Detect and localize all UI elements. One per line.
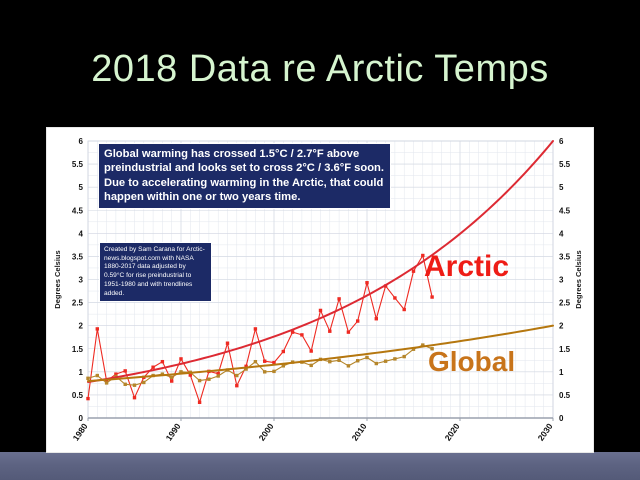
data-point-arctic: [347, 330, 350, 333]
data-point-global: [263, 370, 266, 373]
data-point-global: [328, 360, 331, 363]
data-point-arctic: [356, 319, 359, 322]
data-point-global: [86, 377, 89, 380]
callout-credit: Created by Sam Carana for Arctic-news.bl…: [99, 242, 212, 302]
slide-footer-band: [0, 452, 640, 480]
callout-main-statement: Global warming has crossed 1.5°C / 2.7°F…: [98, 143, 391, 209]
data-point-arctic: [319, 309, 322, 312]
data-point-global: [393, 357, 396, 360]
y-tick-right-0: 0: [559, 414, 564, 423]
data-point-arctic: [170, 379, 173, 382]
y-tick-right-3: 3: [559, 276, 564, 285]
data-point-global: [142, 381, 145, 384]
data-point-arctic: [254, 327, 257, 330]
data-point-global: [207, 378, 210, 381]
data-point-arctic: [430, 295, 433, 298]
y-tick-right-2.5: 2.5: [559, 299, 571, 308]
data-point-global: [133, 384, 136, 387]
data-point-arctic: [328, 330, 331, 333]
data-point-arctic: [124, 369, 127, 372]
data-point-arctic: [161, 360, 164, 363]
y-tick-left-5.5: 5.5: [72, 160, 84, 169]
y-tick-right-2: 2: [559, 322, 564, 331]
data-point-arctic: [412, 269, 415, 272]
y-tick-right-1.5: 1.5: [559, 345, 571, 354]
data-point-arctic: [133, 396, 136, 399]
data-point-global: [337, 359, 340, 362]
data-point-arctic: [310, 349, 313, 352]
slide-canvas: 2018 Data re Arctic Temps 00.511.522.533…: [0, 0, 640, 480]
y-axis-right-title: Degrees Celsius: [574, 250, 583, 308]
data-point-global: [254, 360, 257, 363]
data-point-global: [272, 370, 275, 373]
data-point-global: [198, 379, 201, 382]
data-point-global: [105, 381, 108, 384]
y-tick-left-3.5: 3.5: [72, 252, 84, 261]
data-point-arctic: [403, 308, 406, 311]
data-point-global: [235, 374, 238, 377]
y-tick-right-4.5: 4.5: [559, 206, 571, 215]
page-title: 2018 Data re Arctic Temps: [0, 48, 640, 91]
data-point-arctic: [300, 333, 303, 336]
data-point-global: [310, 364, 313, 367]
y-tick-right-5: 5: [559, 183, 564, 192]
data-point-arctic: [235, 384, 238, 387]
data-point-arctic: [365, 281, 368, 284]
data-point-arctic: [151, 366, 154, 369]
data-point-global: [96, 374, 99, 377]
y-tick-right-1: 1: [559, 368, 564, 377]
y-tick-left-2.5: 2.5: [72, 299, 84, 308]
data-point-arctic: [86, 397, 89, 400]
y-tick-right-6: 6: [559, 137, 564, 146]
data-point-arctic: [337, 297, 340, 300]
data-point-global: [217, 374, 220, 377]
y-tick-right-4: 4: [559, 229, 564, 238]
data-point-global: [356, 359, 359, 362]
data-point-arctic: [375, 317, 378, 320]
y-tick-left-4: 4: [79, 229, 84, 238]
data-point-arctic: [226, 342, 229, 345]
data-point-global: [170, 376, 173, 379]
y-tick-left-3: 3: [79, 276, 84, 285]
y-tick-left-1.5: 1.5: [72, 345, 84, 354]
data-point-arctic: [263, 360, 266, 363]
data-point-global: [375, 362, 378, 365]
series-label-arctic: Arctic: [424, 250, 509, 283]
data-point-arctic: [198, 401, 201, 404]
series-label-global: Global: [428, 346, 515, 377]
y-tick-left-2: 2: [79, 322, 84, 331]
y-tick-left-1: 1: [79, 368, 84, 377]
data-point-arctic: [96, 327, 99, 330]
data-point-global: [365, 356, 368, 359]
data-point-arctic: [179, 357, 182, 360]
data-point-global: [403, 355, 406, 358]
data-point-arctic: [282, 350, 285, 353]
y-tick-right-3.5: 3.5: [559, 252, 571, 261]
data-point-arctic: [393, 296, 396, 299]
data-point-global: [384, 360, 387, 363]
y-tick-left-0.5: 0.5: [72, 391, 84, 400]
y-tick-left-4.5: 4.5: [72, 206, 84, 215]
y-tick-left-6: 6: [79, 137, 84, 146]
y-tick-left-5: 5: [79, 183, 84, 192]
y-axis-left-title: Degrees Celsius: [53, 250, 62, 308]
y-tick-right-5.5: 5.5: [559, 160, 571, 169]
data-point-global: [124, 383, 127, 386]
chart-panel: 00.511.522.533.544.555.56 00.511.522.533…: [47, 128, 593, 452]
data-point-global: [347, 364, 350, 367]
y-tick-right-0.5: 0.5: [559, 391, 571, 400]
